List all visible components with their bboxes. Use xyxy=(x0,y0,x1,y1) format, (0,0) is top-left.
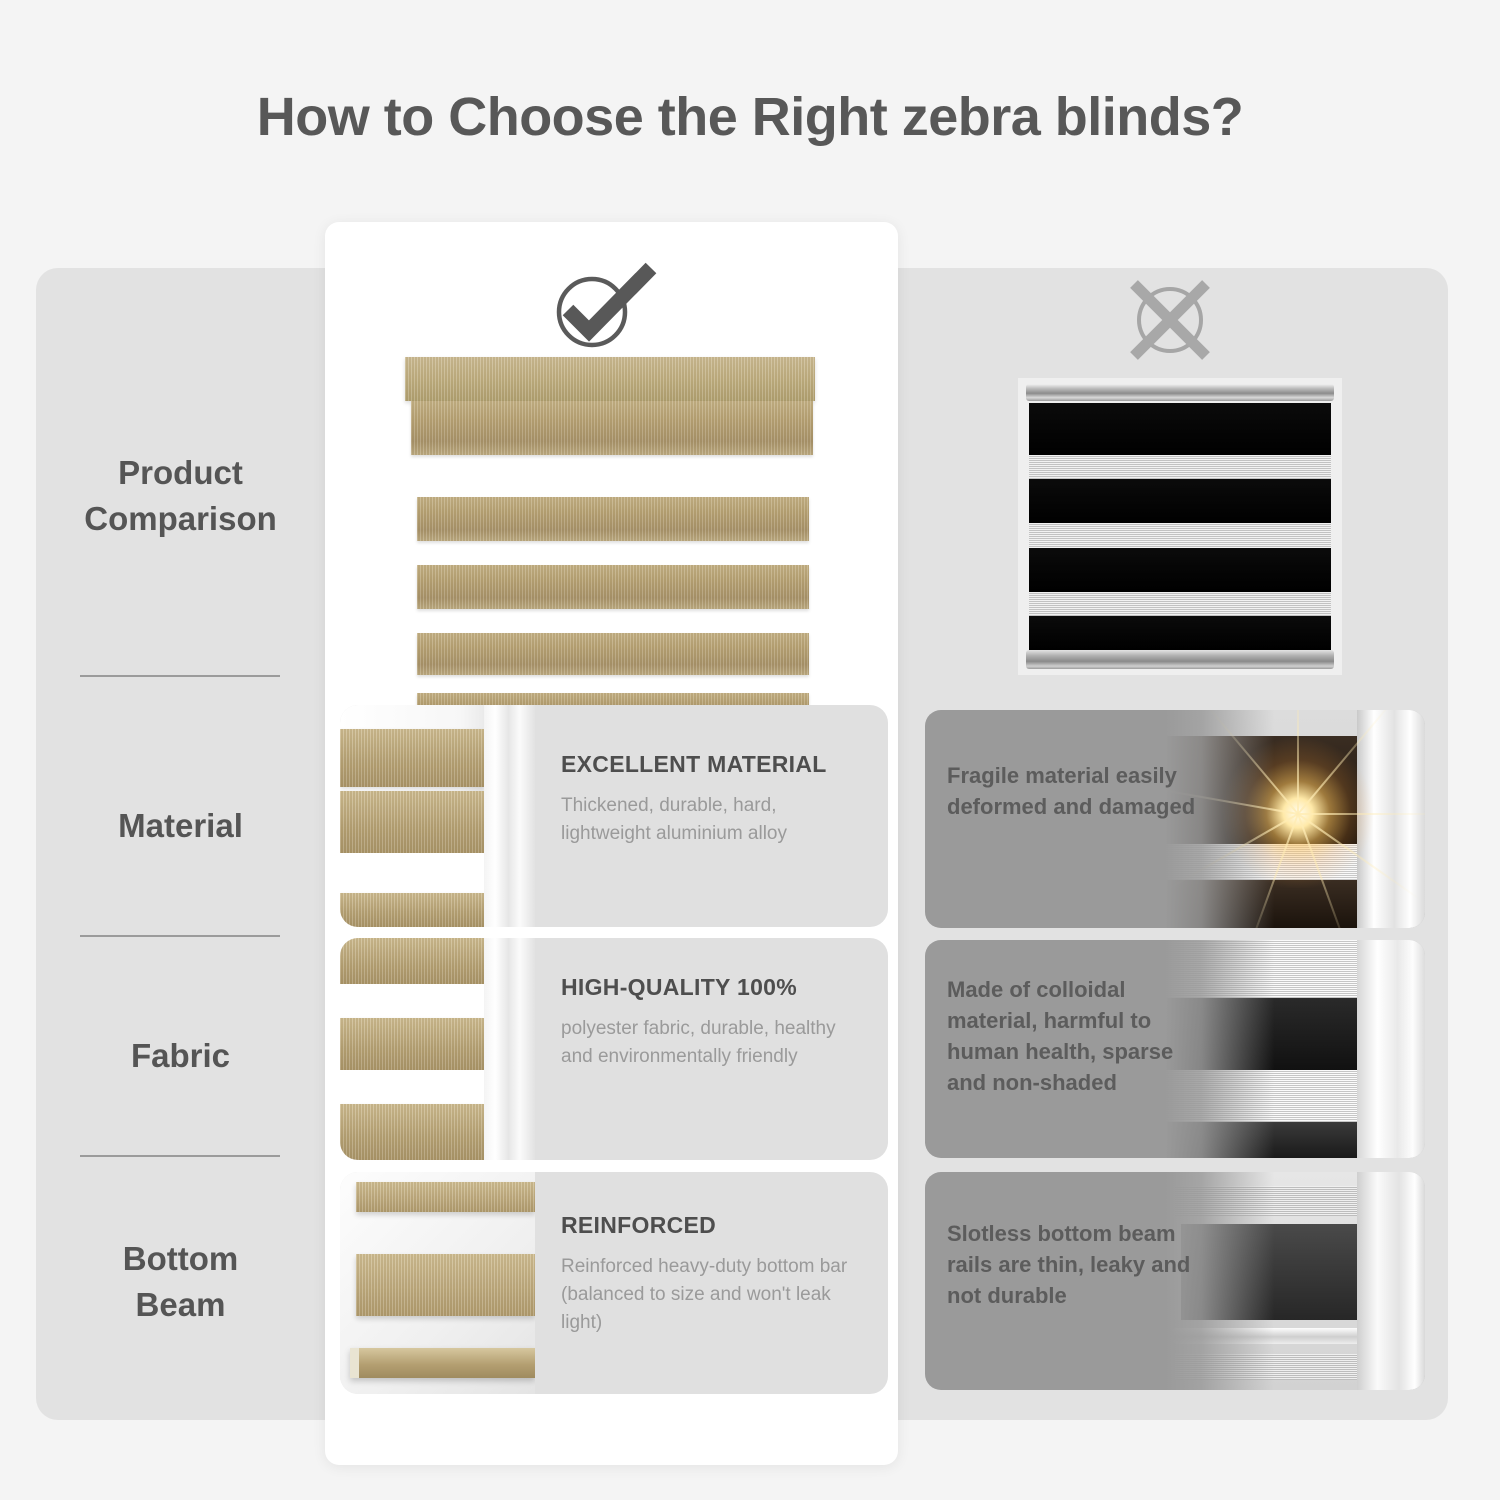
row-label-bottom-beam: Bottom Beam xyxy=(36,1236,325,1328)
sheer-band xyxy=(1029,592,1331,616)
black-band xyxy=(1029,403,1331,455)
beige-blind-fabric-closeup-image xyxy=(340,938,535,1160)
good-feature-body: Reinforced heavy-duty bottom bar (balanc… xyxy=(561,1253,868,1337)
row-label-line2: Beam xyxy=(36,1282,325,1328)
slat-band xyxy=(411,401,813,455)
row-divider-1 xyxy=(80,675,280,677)
aluminium-headrail xyxy=(1026,384,1334,401)
good-feature-card-material: EXCELLENT MATERIAL Thickened, durable, h… xyxy=(340,705,888,927)
black-band xyxy=(1029,479,1331,523)
row-label-column: Product Comparison Material Fabric Botto… xyxy=(36,268,325,1420)
good-feature-body: Thickened, durable, hard, lightweight al… xyxy=(561,792,868,848)
good-feature-body: polyester fabric, durable, healthy and e… xyxy=(561,1015,868,1071)
bad-feature-text: Fragile material easily deformed and dam… xyxy=(947,760,1217,822)
black-band xyxy=(1029,548,1331,592)
reinforced-bottom-bar xyxy=(350,1348,535,1378)
bad-feature-text: Made of colloidal material, harmful to h… xyxy=(947,974,1217,1098)
row-divider-2 xyxy=(80,935,280,937)
bad-feature-card-fabric: Made of colloidal material, harmful to h… xyxy=(925,940,1425,1158)
slat-band xyxy=(417,565,809,609)
row-divider-3 xyxy=(80,1155,280,1157)
row-label-fabric: Fabric xyxy=(36,1033,325,1079)
headrail xyxy=(405,357,815,401)
aluminium-bottom-rail xyxy=(1026,650,1334,669)
row-label-line1: Bottom xyxy=(36,1236,325,1282)
bad-product-image xyxy=(1018,378,1342,675)
good-feature-text: REINFORCED Reinforced heavy-duty bottom … xyxy=(535,1172,888,1394)
bad-feature-card-material: Fragile material easily deformed and dam… xyxy=(925,710,1425,928)
sheer-band xyxy=(1029,523,1331,548)
beige-blind-bottom-beam-closeup-image xyxy=(340,1172,535,1394)
good-feature-title: EXCELLENT MATERIAL xyxy=(561,751,868,778)
row-label-line1: Material xyxy=(36,803,325,849)
bad-feature-card-bottom-beam: Slotless bottom beam rails are thin, lea… xyxy=(925,1172,1425,1390)
good-feature-card-bottom-beam: REINFORCED Reinforced heavy-duty bottom … xyxy=(340,1172,888,1394)
row-label-line1: Fabric xyxy=(36,1033,325,1079)
beige-blind-headrail-closeup-image xyxy=(340,705,535,927)
row-label-line1: Product xyxy=(36,450,325,496)
good-feature-title: HIGH-QUALITY 100% xyxy=(561,974,868,1001)
sheer-band xyxy=(1029,455,1331,479)
slat-band xyxy=(417,633,809,675)
black-band xyxy=(1029,616,1331,650)
good-feature-text: EXCELLENT MATERIAL Thickened, durable, h… xyxy=(535,705,888,927)
page-title: How to Choose the Right zebra blinds? xyxy=(0,86,1500,148)
good-feature-text: HIGH-QUALITY 100% polyester fabric, dura… xyxy=(535,938,888,1160)
good-feature-title: REINFORCED xyxy=(561,1212,868,1239)
bad-feature-text: Slotless bottom beam rails are thin, lea… xyxy=(947,1218,1217,1311)
good-product-image xyxy=(405,357,815,697)
slat-band xyxy=(417,497,809,541)
good-feature-card-fabric: HIGH-QUALITY 100% polyester fabric, dura… xyxy=(340,938,888,1160)
cross-circle-icon xyxy=(1118,276,1222,367)
check-circle-icon xyxy=(548,262,658,359)
row-label-product-comparison: Product Comparison xyxy=(36,450,325,542)
row-label-line2: Comparison xyxy=(36,496,325,542)
row-label-material: Material xyxy=(36,803,325,849)
